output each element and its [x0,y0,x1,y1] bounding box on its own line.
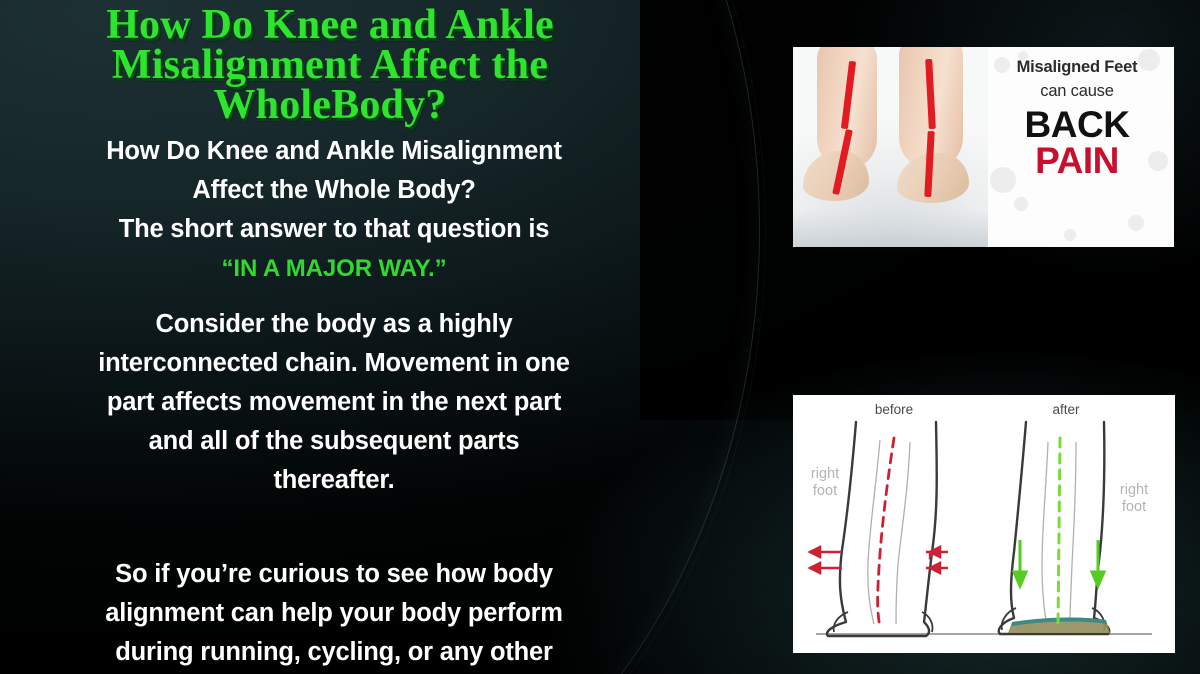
label-before: before [850,402,938,417]
body-line: interconnected chain. Movement in one [40,344,628,383]
legs-photo [793,47,993,247]
caption-line-4: PAIN [988,143,1166,179]
image-before-after: before after rightfoot rightfoot [793,395,1175,653]
caption-line-1: Misaligned Feet [988,58,1166,77]
body-line: The short answer to that question is [26,210,642,249]
floor-reflection [793,211,993,247]
text-column: How Do Knee and Ankle Misalignment Affec… [0,0,668,674]
body-line: alignment can help your body perform [44,594,624,633]
back-pain-caption: Misaligned Feet can cause BACK PAIN [988,47,1174,247]
page-title: How Do Knee and Ankle Misalignment Affec… [26,4,642,126]
body-line: So if you’re curious to see how body [44,555,624,594]
body-line: Affect the Whole Body? [26,171,642,210]
body-line: and all of the subsequent parts [40,422,628,461]
ankle-alignment-svg [798,400,1170,648]
body-line: Consider the body as a highly [40,305,628,344]
body-line: during running, cycling, or any other [44,633,624,672]
caption-line-2: can cause [988,82,1166,101]
body-line-highlight: “IN A MAJOR WAY.” [26,249,642,288]
paragraph-intro: How Do Knee and Ankle Misalignment Affec… [26,132,642,288]
body-line: thereafter. [40,461,628,500]
body-line: How Do Knee and Ankle Misalignment [26,132,642,171]
side-label-right-right-foot: rightfoot [1102,482,1166,516]
before-after-diagram: before after rightfoot rightfoot [798,400,1170,648]
label-after: after [1026,402,1106,417]
paragraph-cta: So if you’re curious to see how body ali… [26,555,642,674]
image-back-pain: Misaligned Feet can cause BACK PAIN [793,47,1174,247]
side-label-left-right-foot: rightfoot [794,466,856,500]
paragraph-chain: Consider the body as a highly interconne… [26,305,642,500]
slide-canvas: How Do Knee and Ankle Misalignment Affec… [0,0,1200,674]
body-line: part affects movement in the next part [40,383,628,422]
caption-line-3: BACK [988,107,1166,143]
